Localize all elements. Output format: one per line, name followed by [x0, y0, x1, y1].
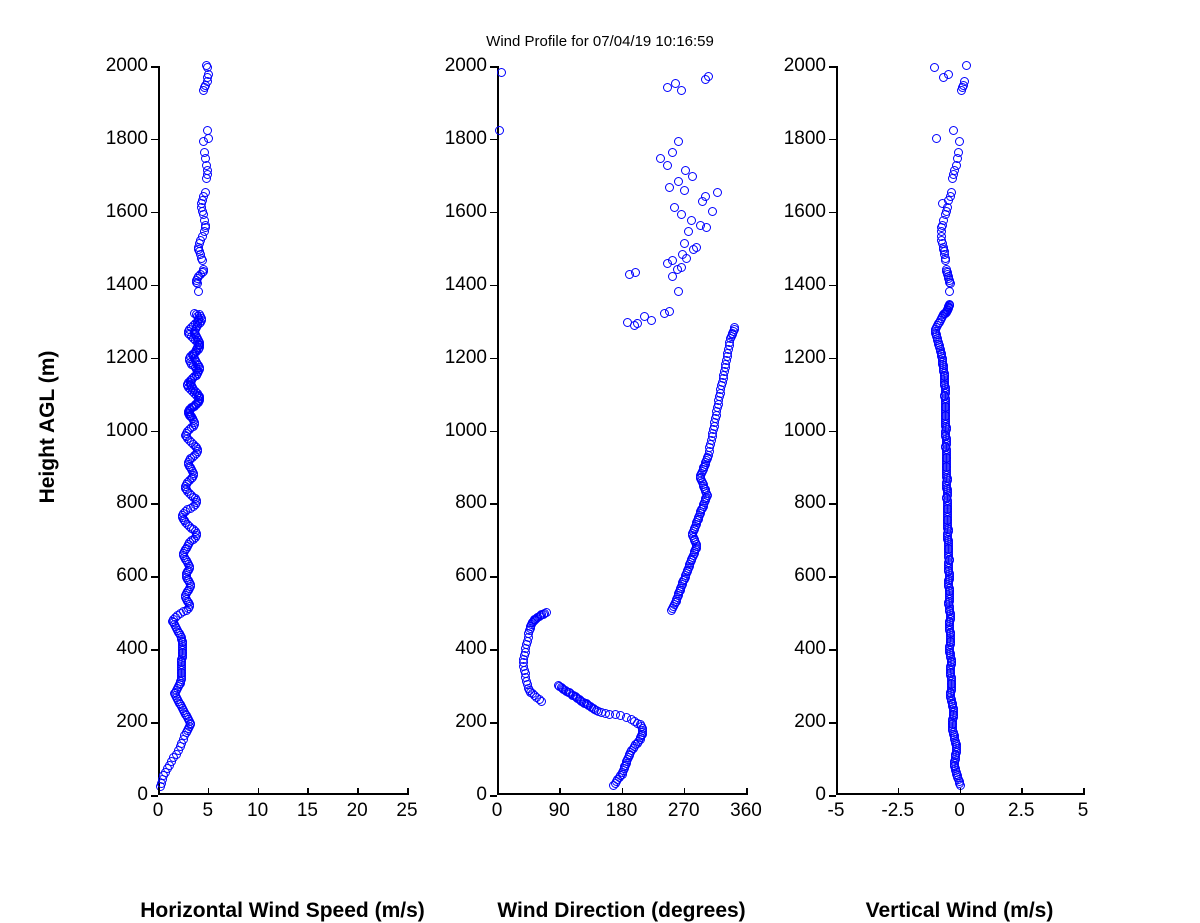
- panel2-x-tick-label: 2.5: [1008, 800, 1034, 822]
- panel1-y-tick: [490, 431, 497, 433]
- data-point: [200, 148, 209, 157]
- panel0-y-tick-label: 400: [116, 638, 148, 660]
- figure-title: Wind Profile for 07/04/19 10:16:59: [0, 33, 1200, 50]
- panel2-x-tick: [1021, 788, 1023, 795]
- panel1-y-tick-label: 1200: [445, 347, 487, 369]
- panel0-x-tick-label: 10: [247, 800, 268, 822]
- panel1-x-tick-label: 270: [668, 800, 700, 822]
- data-point: [930, 63, 939, 72]
- panel2-y-tick: [829, 431, 836, 433]
- data-point: [202, 61, 211, 70]
- panel2-y-tick-label: 1000: [784, 420, 826, 442]
- panel2-y-tick-label: 1800: [784, 128, 826, 150]
- data-point: [665, 183, 674, 192]
- panel2-x-tick: [960, 788, 962, 795]
- data-point: [932, 134, 941, 143]
- data-point: [692, 243, 701, 252]
- panel1-y-tick: [490, 139, 497, 141]
- panel0-y-tick: [151, 576, 158, 578]
- panel0-x-tick-label: 15: [297, 800, 318, 822]
- panel0-x-tick: [258, 788, 260, 795]
- panel2-y-tick-label: 1200: [784, 347, 826, 369]
- panel1-x-tick-label: 90: [549, 800, 570, 822]
- data-point: [194, 287, 203, 296]
- panel0-x-tick: [407, 788, 409, 795]
- panel-vertical-wind: Vertical Wind (m/s) 02004006008001000120…: [836, 66, 1083, 795]
- data-point: [701, 192, 710, 201]
- panel1-x-tick-label: 0: [492, 800, 503, 822]
- panel0-y-tick: [151, 722, 158, 724]
- panel1-y-tick: [490, 795, 497, 797]
- panel2-x-tick-label: -2.5: [881, 800, 914, 822]
- data-point: [944, 70, 953, 79]
- panel0-y-tick-label: 1000: [106, 420, 148, 442]
- panel0-y-tick: [151, 358, 158, 360]
- panel0-x-tick: [357, 788, 359, 795]
- panel2-y-tick: [829, 139, 836, 141]
- data-point: [633, 319, 642, 328]
- panel2-y-tick: [829, 722, 836, 724]
- panel1-y-tick-label: 800: [455, 492, 487, 514]
- data-point: [947, 188, 956, 197]
- data-point: [954, 148, 963, 157]
- panel2-y-tick: [829, 212, 836, 214]
- panel2-y-tick: [829, 503, 836, 505]
- panel0-x-tick-label: 20: [347, 800, 368, 822]
- panel2-y-tick-label: 200: [794, 711, 826, 733]
- panel0-y-tick-label: 200: [116, 711, 148, 733]
- data-point: [960, 77, 969, 86]
- data-point: [942, 265, 951, 274]
- panel2-y-tick-label: 400: [794, 638, 826, 660]
- panel2-x-tick-label: 5: [1078, 800, 1089, 822]
- panel1-y-tick-label: 200: [455, 711, 487, 733]
- panel2-y-tick-label: 1600: [784, 201, 826, 223]
- data-point: [656, 154, 665, 163]
- panel1-y-tick-label: 0: [476, 784, 487, 806]
- panel0-y-tick: [151, 503, 158, 505]
- data-point: [674, 177, 683, 186]
- panel0-y-tick-label: 0: [137, 784, 148, 806]
- y-axis-label: Height AGL (m): [36, 317, 60, 537]
- panel1-plot-area: [497, 66, 746, 795]
- panel0-x-tick-label: 25: [396, 800, 417, 822]
- data-point: [708, 207, 717, 216]
- panel0-x-tick-label: 0: [153, 800, 164, 822]
- data-point: [671, 79, 680, 88]
- panel0-y-tick: [151, 795, 158, 797]
- panel-wind-direction: Wind Direction (degrees) 020040060080010…: [497, 66, 746, 795]
- panel1-y-tick: [490, 358, 497, 360]
- panel1-y-tick: [490, 503, 497, 505]
- data-point: [670, 203, 679, 212]
- panel1-x-axis-label: Wind Direction (degrees): [497, 899, 745, 923]
- panel1-x-tick: [746, 788, 748, 795]
- data-point: [677, 210, 686, 219]
- panel2-plot-area: [836, 66, 1083, 795]
- data-point: [668, 256, 677, 265]
- panel2-x-tick: [898, 788, 900, 795]
- panel2-y-tick-label: 2000: [784, 55, 826, 77]
- panel2-x-tick: [836, 788, 838, 795]
- panel1-x-tick-label: 360: [730, 800, 762, 822]
- panel1-x-tick: [559, 788, 561, 795]
- data-point: [201, 188, 210, 197]
- panel1-y-tick: [490, 212, 497, 214]
- data-point: [949, 126, 958, 135]
- panel1-y-tick-label: 1800: [445, 128, 487, 150]
- data-point: [677, 263, 686, 272]
- panel0-y-tick: [151, 66, 158, 68]
- panel1-x-tick: [622, 788, 624, 795]
- data-point: [945, 300, 954, 309]
- panel1-y-tick: [490, 576, 497, 578]
- panel2-y-tick: [829, 66, 836, 68]
- data-point: [704, 72, 713, 81]
- data-point: [195, 310, 204, 319]
- data-point: [674, 137, 683, 146]
- panel0-plot-area: [158, 66, 407, 795]
- panel1-y-tick: [490, 649, 497, 651]
- data-point: [495, 126, 504, 135]
- panel2-y-tick-label: 1400: [784, 274, 826, 296]
- figure-canvas: Wind Profile for 07/04/19 10:16:59 Heigh…: [0, 0, 1200, 900]
- data-point: [677, 86, 686, 95]
- panel0-y-tick-label: 600: [116, 565, 148, 587]
- panel1-y-tick: [490, 66, 497, 68]
- panel1-y-tick-label: 2000: [445, 55, 487, 77]
- data-point: [945, 287, 954, 296]
- panel1-y-tick-label: 1600: [445, 201, 487, 223]
- data-point: [663, 161, 672, 170]
- panel1-y-tick: [490, 285, 497, 287]
- panel1-y-tick-label: 600: [455, 565, 487, 587]
- panel1-y-tick: [490, 722, 497, 724]
- panel2-y-tick-label: 0: [815, 784, 826, 806]
- panel0-y-tick-label: 800: [116, 492, 148, 514]
- panel0-y-tick-label: 1400: [106, 274, 148, 296]
- panel1-x-tick: [684, 788, 686, 795]
- panel1-x-tick-label: 180: [606, 800, 638, 822]
- panel0-x-axis-label: Horizontal Wind Speed (m/s): [140, 899, 424, 923]
- panel2-y-tick: [829, 795, 836, 797]
- data-point: [962, 61, 971, 70]
- panel2-x-tick: [1083, 788, 1085, 795]
- data-point: [688, 172, 697, 181]
- panel0-x-tick-label: 5: [203, 800, 214, 822]
- data-point: [681, 166, 690, 175]
- panel2-y-tick: [829, 576, 836, 578]
- panel0-x-tick: [307, 788, 309, 795]
- data-point: [665, 307, 674, 316]
- panel2-y-tick: [829, 649, 836, 651]
- panel2-x-tick-label: 0: [954, 800, 965, 822]
- panel2-y-tick: [829, 285, 836, 287]
- data-point: [687, 216, 696, 225]
- panel0-y-tick: [151, 431, 158, 433]
- data-point: [668, 148, 677, 157]
- data-point: [542, 608, 551, 617]
- panel2-x-axis-label: Vertical Wind (m/s): [866, 899, 1054, 923]
- panel0-y-tick-label: 2000: [106, 55, 148, 77]
- data-point: [199, 265, 208, 274]
- panel2-y-tick-label: 800: [794, 492, 826, 514]
- panel0-y-tick-label: 1600: [106, 201, 148, 223]
- panel0-y-tick-label: 1200: [106, 347, 148, 369]
- panel2-y-tick-label: 600: [794, 565, 826, 587]
- data-point: [623, 318, 632, 327]
- panel0-x-tick: [158, 788, 160, 795]
- panel0-y-tick: [151, 212, 158, 214]
- panel2-x-tick-label: -5: [828, 800, 845, 822]
- panel1-y-tick-label: 1000: [445, 420, 487, 442]
- panel0-y-tick: [151, 285, 158, 287]
- panel0-x-tick: [208, 788, 210, 795]
- data-point: [631, 268, 640, 277]
- panel0-y-tick-label: 1800: [106, 128, 148, 150]
- data-point: [680, 186, 689, 195]
- panel0-y-tick: [151, 649, 158, 651]
- panel-horizontal-wind-speed: Horizontal Wind Speed (m/s) 020040060080…: [158, 66, 407, 795]
- panel2-y-tick: [829, 358, 836, 360]
- data-point: [684, 227, 693, 236]
- data-point: [955, 137, 964, 146]
- data-point: [674, 287, 683, 296]
- panel1-y-tick-label: 1400: [445, 274, 487, 296]
- data-point: [680, 239, 689, 248]
- data-point: [713, 188, 722, 197]
- data-point: [497, 68, 506, 77]
- panel0-y-tick: [151, 139, 158, 141]
- data-point: [554, 681, 563, 690]
- panel1-y-tick-label: 400: [455, 638, 487, 660]
- panel1-x-tick: [497, 788, 499, 795]
